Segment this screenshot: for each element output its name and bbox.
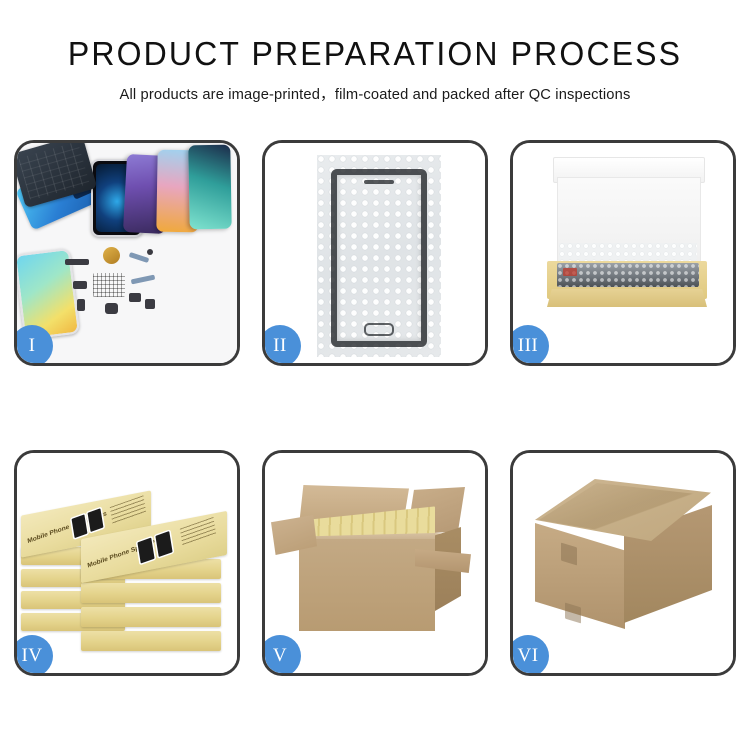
step-panel-3: III [510,140,736,366]
box-phone-thumb-rear-1 [72,514,88,538]
step-panel-2: II [262,140,488,366]
stacked-boxes-illustration: Mobile Phone Spare Parts Mobile Phone [17,453,237,673]
step-image-4: Mobile Phone Spare Parts Mobile Phone [17,453,237,673]
copper-coil-part [103,247,120,264]
stack-box-front-5 [81,631,221,651]
page-header: PRODUCT PREPARATION PROCESS All products… [0,0,750,104]
speaker-part [65,259,89,265]
flex-cable-part-1 [129,252,150,263]
phone-screen-outline [331,169,427,347]
stack-box-front-3 [81,583,221,603]
teal-phone [188,145,231,230]
kraft-box-front-face [547,289,707,307]
step-panel-6: VI [510,450,736,676]
step-panel-5: V [262,450,488,676]
step-image-2: II [265,143,485,363]
battery-connector-part [145,299,155,309]
connector-part-1 [73,281,87,289]
box-phone-thumb-rear-2 [88,508,104,532]
bubble-wrap-sheet [317,155,441,357]
home-button [364,323,394,336]
earpiece-slot [364,180,394,184]
box-spec-lines-front [180,517,216,546]
page-subtitle: All products are image-printed，film-coat… [8,83,743,104]
wrapped-screen-in-box [557,263,699,287]
step-image-5: V [265,453,485,673]
carton-front-face [299,539,435,631]
button-part [77,299,85,311]
step-panel-4: Mobile Phone Spare Parts Mobile Phone [14,450,240,676]
open-carton-illustration [265,453,485,673]
bubble-wrapped-screen-illustration [265,143,485,363]
process-steps-grid: I II [14,140,736,676]
camera-module-part [105,303,118,314]
page-title: PRODUCT PREPARATION PROCESS [11,34,739,74]
step-panel-1: I [14,140,240,366]
stack-box-front-4 [81,607,221,627]
flex-cable-part-2 [131,275,156,285]
shield-grid-part [93,273,125,297]
phones-and-parts-illustration [17,143,237,363]
screw-part [147,249,153,255]
box-stack: Mobile Phone Spare Parts Mobile Phone [21,473,237,663]
box-spec-lines-rear [110,495,146,524]
sealed-carton-illustration [513,453,733,673]
step-image-1: I [17,143,237,363]
connector-part-2 [129,293,141,302]
step-image-3: III [513,143,733,363]
step-image-6: VI [513,453,733,673]
boxed-unit-illustration [513,143,733,363]
box-phone-thumb-front-2 [155,531,172,557]
